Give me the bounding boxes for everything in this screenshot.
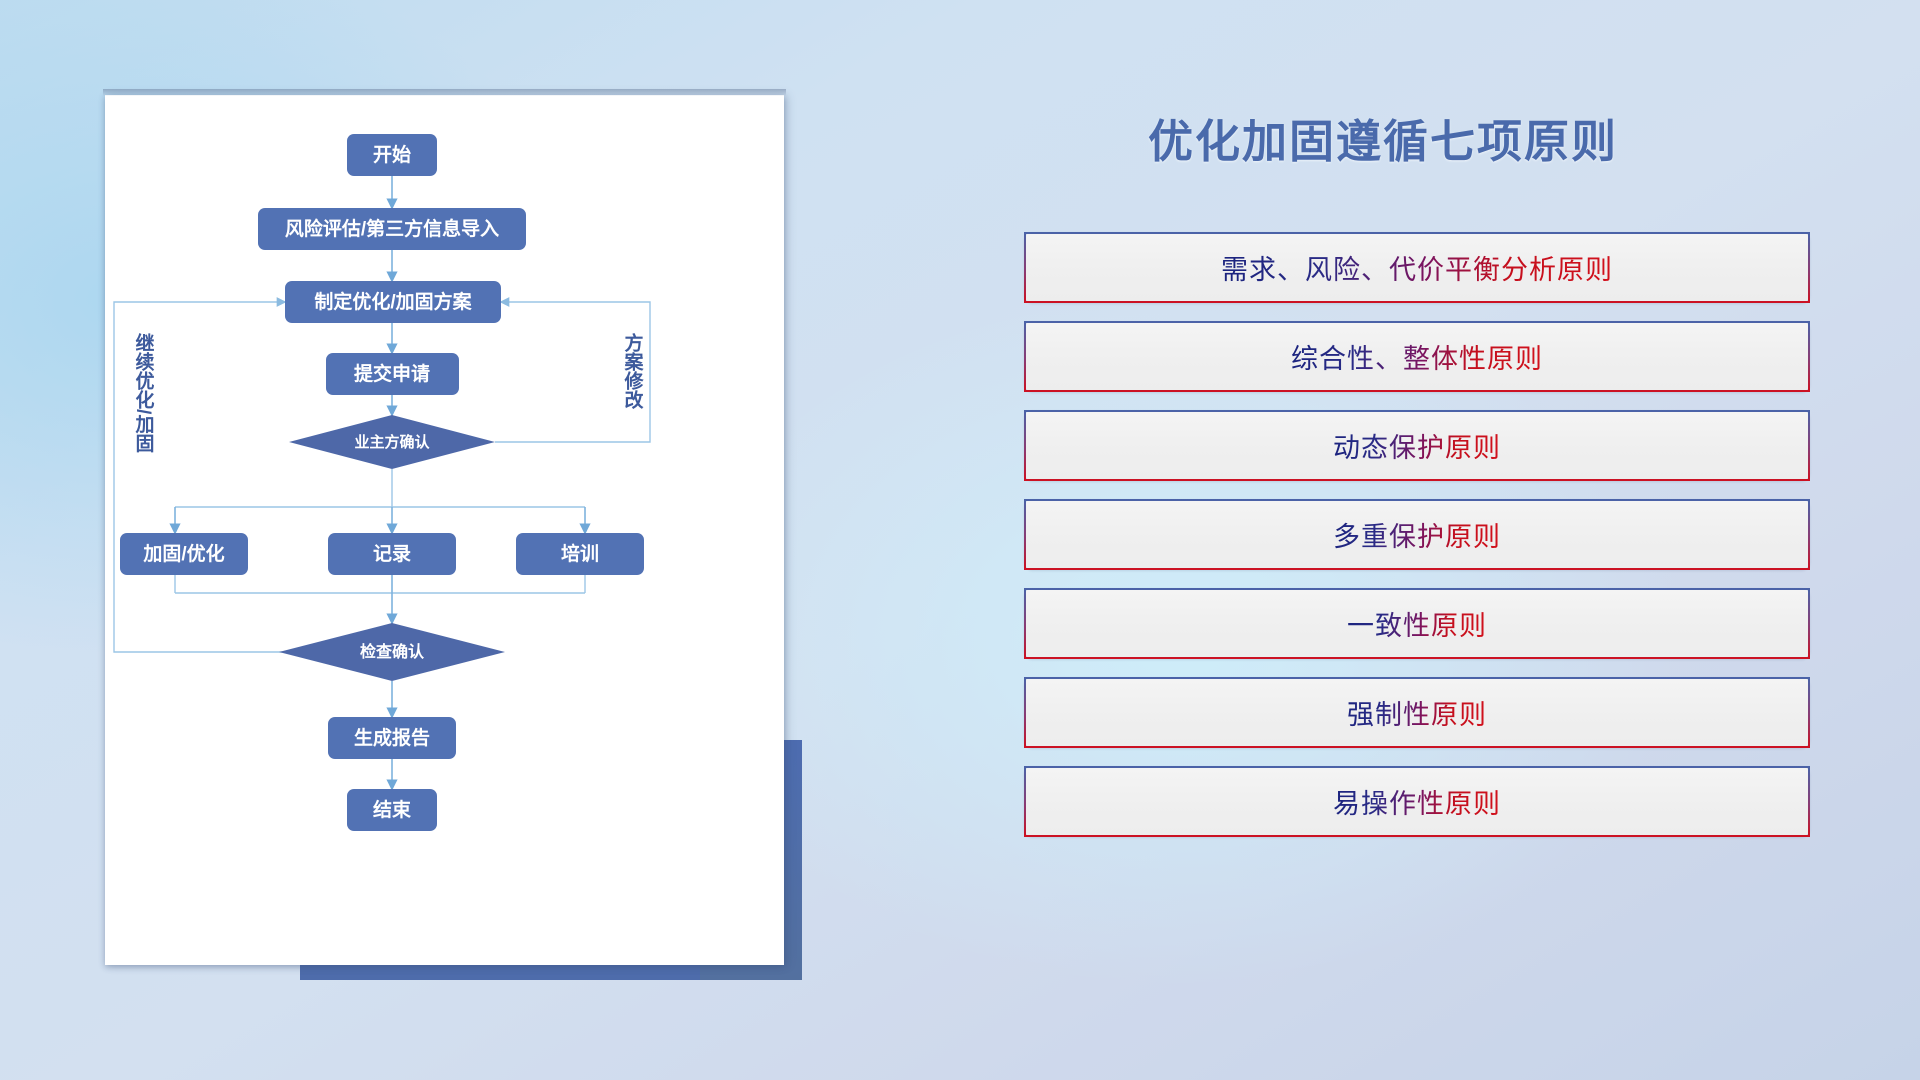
flow-node-owner-confirm[interactable]: 业主方确认 (289, 415, 495, 469)
flow-node-plan[interactable]: 制定优化/加固方案 (285, 281, 501, 323)
principle-card-label: 多重保护原则 (1333, 515, 1501, 554)
flow-node-end[interactable]: 结束 (347, 789, 437, 831)
principle-card[interactable]: 强制性原则 (1024, 677, 1810, 748)
principle-card[interactable]: 易操作性原则 (1024, 766, 1810, 837)
flow-node-start[interactable]: 开始 (347, 134, 437, 176)
principle-card[interactable]: 一致性原则 (1024, 588, 1810, 659)
flow-node-check-confirm-label: 检查确认 (360, 642, 425, 661)
flow-node-record[interactable]: 记录 (328, 533, 456, 575)
principle-card-label: 易操作性原则 (1333, 782, 1501, 821)
edge-label-continue-optimize: 继续优化/加固 (133, 332, 156, 453)
flow-node-reinforce-label: 加固/优化 (142, 542, 224, 565)
principle-card-label: 综合性、整体性原则 (1291, 337, 1543, 376)
principle-card-label: 强制性原则 (1347, 693, 1487, 732)
flow-node-record-label: 记录 (373, 543, 411, 565)
flow-node-training-label: 培训 (561, 542, 599, 565)
slide-canvas: 开始 风险评估/第三方信息导入 制定优化/加固方案 提交申请 业主方确认 (0, 0, 1920, 1080)
flow-node-training[interactable]: 培训 (516, 533, 644, 575)
flow-node-check-confirm[interactable]: 检查确认 (279, 623, 505, 681)
principle-card[interactable]: 动态保护原则 (1024, 410, 1810, 481)
flowchart-card: 开始 风险评估/第三方信息导入 制定优化/加固方案 提交申请 业主方确认 (105, 95, 784, 965)
principle-card-label: 一致性原则 (1347, 604, 1487, 643)
principle-card[interactable]: 多重保护原则 (1024, 499, 1810, 570)
principle-card[interactable]: 综合性、整体性原则 (1024, 321, 1810, 392)
flow-node-submit-label: 提交申请 (354, 362, 430, 385)
flowchart-diagram: 开始 风险评估/第三方信息导入 制定优化/加固方案 提交申请 业主方确认 (105, 95, 784, 965)
edge-label-plan-revise: 方案修改 (622, 332, 645, 410)
page-title: 优化加固遵循七项原则 (1148, 105, 1618, 170)
principle-card[interactable]: 需求、风险、代价平衡分析原则 (1024, 232, 1810, 303)
flow-node-reinforce[interactable]: 加固/优化 (120, 533, 248, 575)
flow-node-risk-assessment[interactable]: 风险评估/第三方信息导入 (258, 208, 526, 250)
principles-list: 需求、风险、代价平衡分析原则 综合性、整体性原则 动态保护原则 多重保护原则 一… (1024, 232, 1810, 855)
flow-node-risk-label: 风险评估/第三方信息导入 (285, 217, 499, 240)
flow-node-end-label: 结束 (373, 798, 412, 821)
flow-node-report[interactable]: 生成报告 (328, 717, 456, 759)
flow-node-submit[interactable]: 提交申请 (326, 353, 459, 395)
flow-node-report-label: 生成报告 (354, 726, 430, 749)
principle-card-label: 需求、风险、代价平衡分析原则 (1221, 248, 1613, 287)
flow-node-plan-label: 制定优化/加固方案 (314, 290, 472, 313)
flow-node-owner-confirm-label: 业主方确认 (354, 433, 430, 451)
flow-node-start-label: 开始 (373, 143, 411, 166)
principle-card-label: 动态保护原则 (1333, 426, 1501, 465)
